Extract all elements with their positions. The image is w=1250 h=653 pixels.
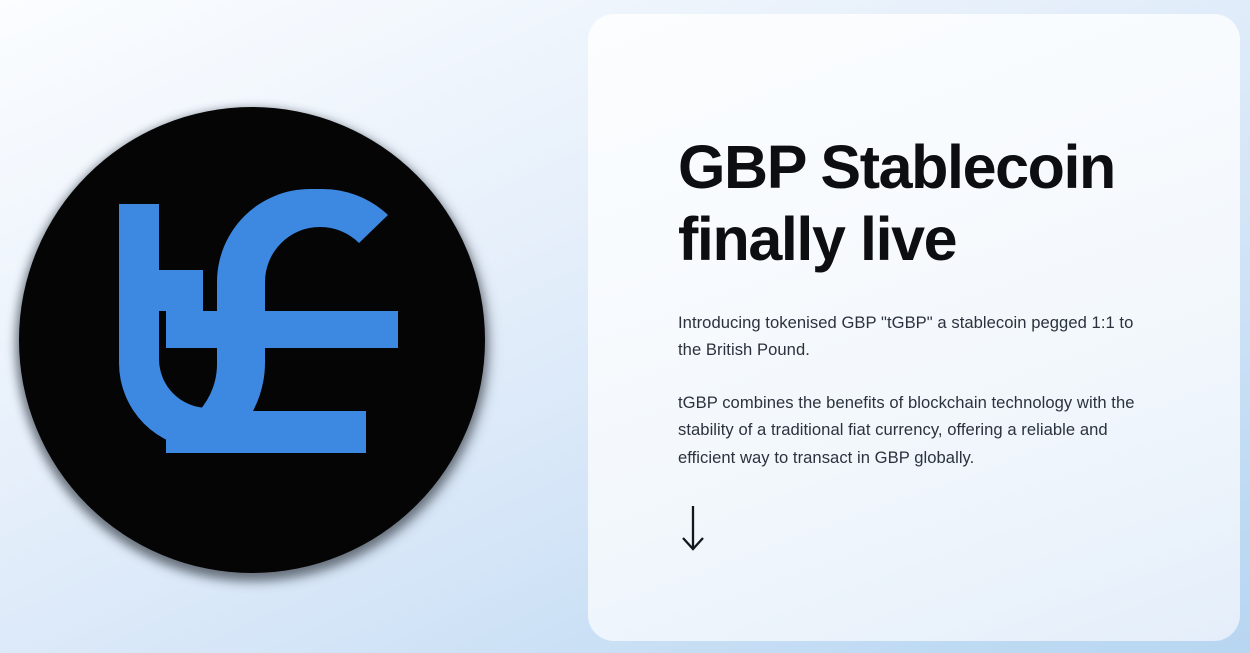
hero-logo-area [0, 0, 588, 653]
detail-paragraph: tGBP combines the benefits of blockchain… [678, 389, 1148, 470]
tgbp-coin-logo [19, 107, 485, 573]
scroll-down-indicator[interactable] [678, 503, 708, 555]
page-title: GBP Stablecoin finally live [678, 132, 1156, 275]
content-card: GBP Stablecoin finally live Introducing … [588, 14, 1240, 641]
card-content: GBP Stablecoin finally live Introducing … [678, 132, 1156, 555]
tgbp-coin-logo-icon [19, 107, 485, 573]
arrow-down-icon [678, 503, 708, 555]
intro-paragraph: Introducing tokenised GBP "tGBP" a stabl… [678, 309, 1148, 363]
